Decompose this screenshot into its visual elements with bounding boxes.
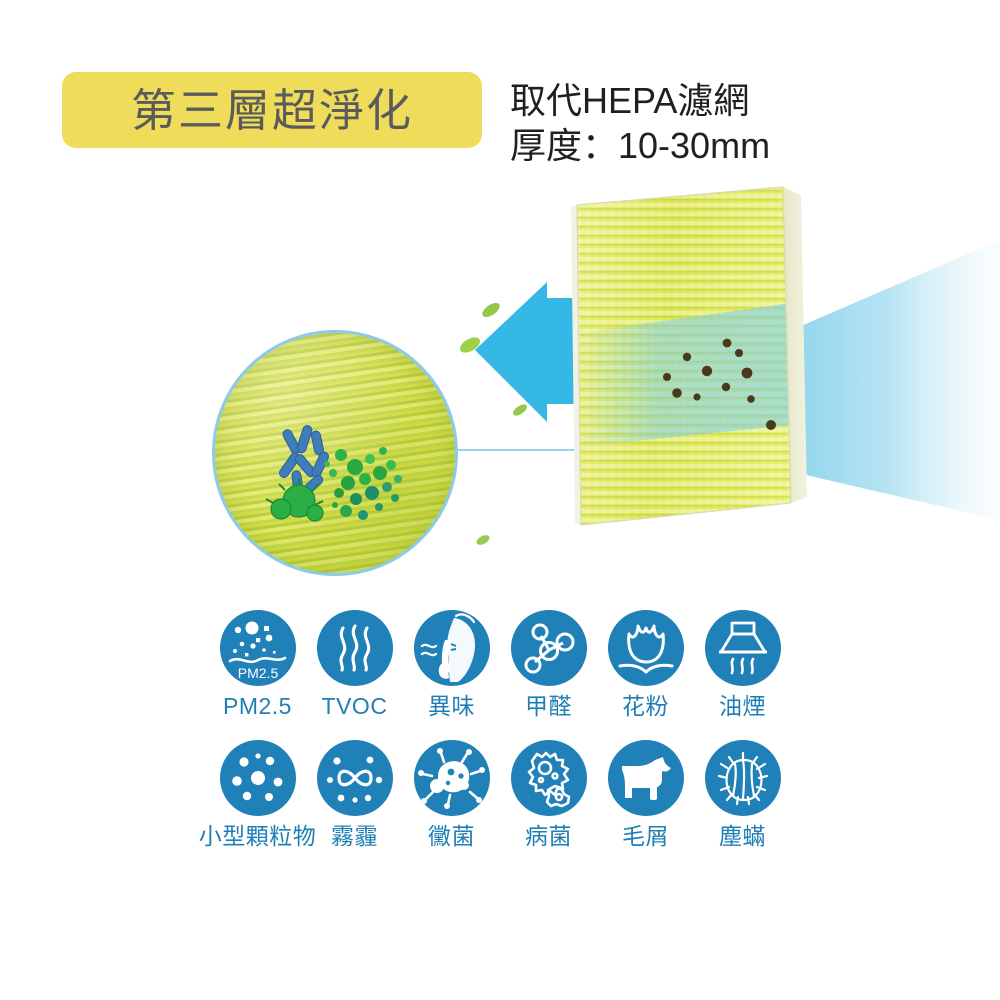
filter-slab [555, 185, 845, 545]
section-title-banner: 第三層超淨化 [62, 72, 482, 148]
spec-text-block: 取代HEPA濾網 厚度：10-30mm [510, 78, 890, 168]
germ-cell-icon [511, 740, 587, 816]
icon-label: 甲醛 [525, 695, 572, 718]
bad-smell-nose-icon [414, 610, 490, 686]
icon-label: 花粉 [622, 695, 669, 718]
icon-cell-smog[interactable]: 霧霾 [306, 740, 403, 848]
icon-label: 毛屑 [622, 825, 669, 848]
icon-cell-pollen[interactable]: 花粉 [597, 610, 694, 718]
icon-cell-odor[interactable]: 異味 [403, 610, 500, 718]
icon-row-2: 小型顆粒物 [0, 740, 1000, 848]
magnified-fabric-view [212, 330, 458, 576]
icon-label: TVOC [322, 695, 388, 718]
section-title-text: 第三層超淨化 [131, 88, 413, 133]
pet-dander-dog-icon [608, 740, 684, 816]
molecule-icon [511, 610, 587, 686]
icon-cell-dander[interactable]: 毛屑 [597, 740, 694, 848]
infographic-page: 第三層超淨化 取代HEPA濾網 厚度：10-30mm [0, 0, 1000, 1000]
icon-row-1: PM2.5 PM2.5 TVOC [0, 610, 1000, 718]
icon-label: 霧霾 [331, 825, 378, 848]
vapor-waves-icon [317, 610, 393, 686]
icon-label: 病菌 [525, 825, 572, 848]
pm25-particles-icon: PM2.5 [220, 610, 296, 686]
flower-pollen-icon [608, 610, 684, 686]
mold-spore-icon [414, 740, 490, 816]
range-hood-icon [705, 610, 781, 686]
dust-mite-icon [705, 740, 781, 816]
icon-cell-mold[interactable]: 黴菌 [403, 740, 500, 848]
icon-cell-pm25[interactable]: PM2.5 PM2.5 [209, 610, 306, 718]
icon-label: 塵蟎 [719, 825, 766, 848]
icon-cell-dustmite[interactable]: 塵蟎 [694, 740, 791, 848]
icon-label: 油煙 [719, 695, 766, 718]
icon-cell-germ[interactable]: 病菌 [500, 740, 597, 848]
microbes-group [215, 333, 455, 573]
spec-line-thickness: 厚度：10-30mm [510, 123, 890, 168]
icon-cell-oilsmoke[interactable]: 油煙 [694, 610, 791, 718]
feature-icon-grid: PM2.5 PM2.5 TVOC [0, 610, 1000, 848]
small-particles-icon [220, 740, 296, 816]
icon-label: PM2.5 [223, 695, 292, 718]
icon-label: 小型顆粒物 [199, 825, 317, 848]
icon-label: 黴菌 [428, 825, 475, 848]
pollen-cluster-icon [324, 447, 402, 520]
icon-cell-small-particles[interactable]: 小型顆粒物 [209, 740, 306, 848]
smog-infinity-icon [317, 740, 393, 816]
filter-illustration [0, 175, 1000, 595]
icon-cell-formaldehyde[interactable]: 甲醛 [500, 610, 597, 718]
svg-text:PM2.5: PM2.5 [237, 665, 278, 681]
bacteria-rods-icon [278, 424, 330, 495]
spec-line-hepa: 取代HEPA濾網 [510, 78, 890, 123]
icon-cell-tvoc[interactable]: TVOC [306, 610, 403, 718]
icon-label: 異味 [428, 695, 475, 718]
